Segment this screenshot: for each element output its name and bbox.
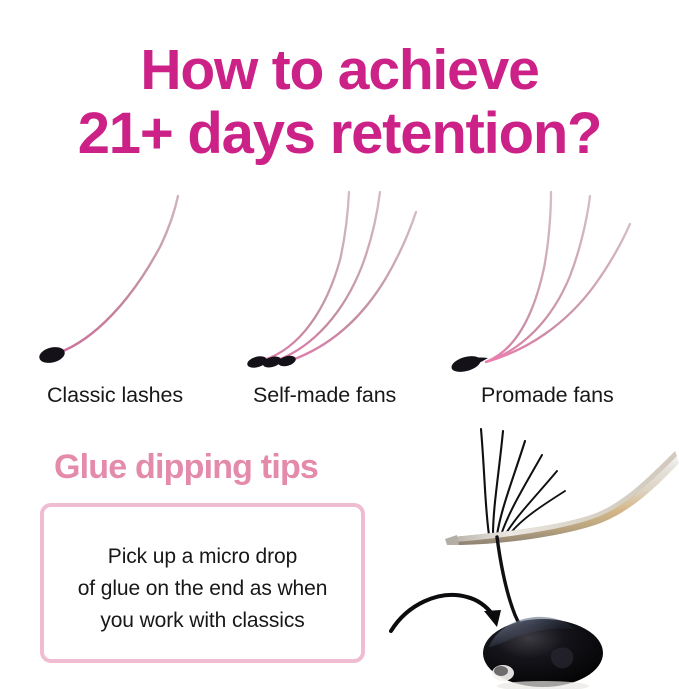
lash-label-promade: Promade fans	[481, 383, 614, 408]
self-made-fan-icon	[240, 190, 460, 375]
lash-label-classic: Classic lashes	[47, 383, 183, 408]
single-lash-icon	[28, 190, 248, 375]
tips-heading: Glue dipping tips	[54, 448, 318, 487]
tweezer-glue-photo	[385, 415, 679, 689]
infographic-canvas: How to achieve 21+ days retention?	[0, 0, 679, 689]
promade-fan-icon	[448, 190, 668, 375]
tips-box: Pick up a micro drop of glue on the end …	[40, 503, 365, 663]
lash-label-self-made: Self-made fans	[253, 383, 396, 408]
lash-illustration-row	[0, 190, 679, 375]
page-title-line-1: How to achieve	[0, 38, 679, 102]
tips-body-line-3: you work with classics	[44, 605, 361, 637]
tips-body: Pick up a micro drop of glue on the end …	[44, 541, 361, 637]
tips-body-line-2: of glue on the end as when	[44, 573, 361, 605]
page-title: How to achieve 21+ days retention?	[0, 38, 679, 166]
tips-body-line-1: Pick up a micro drop	[44, 541, 361, 573]
page-title-line-2: 21+ days retention?	[0, 102, 679, 166]
